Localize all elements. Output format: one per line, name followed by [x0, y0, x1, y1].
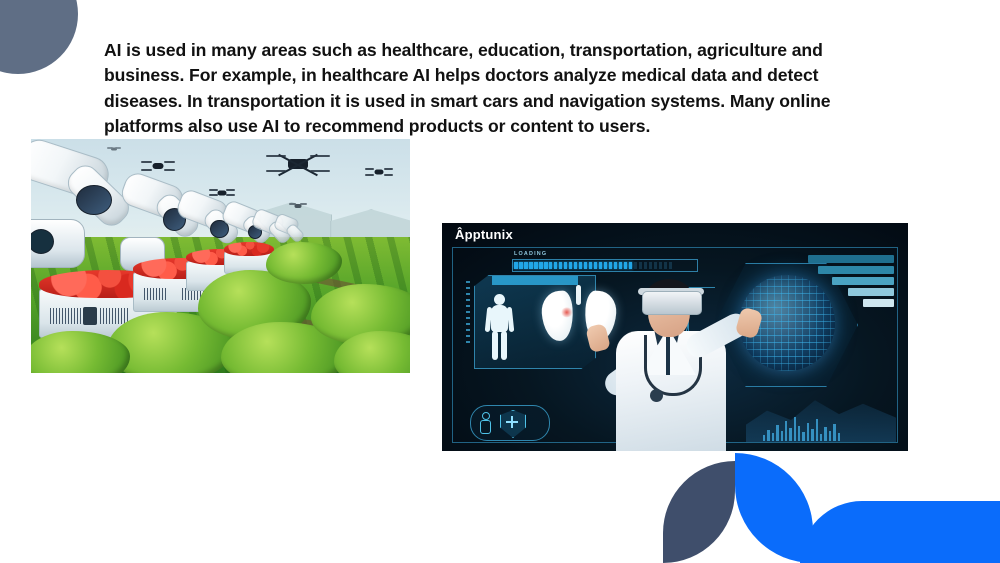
body-paragraph: AI is used in many areas such as healthc… [104, 38, 872, 139]
strawberry-pile [224, 242, 273, 256]
waveform-bar [824, 427, 826, 441]
loading-segment [529, 262, 533, 269]
waveform-bar [802, 432, 804, 441]
hud-bar [818, 266, 894, 274]
hud-tick-strip [466, 281, 470, 345]
human-body-icon [487, 294, 513, 360]
drone [365, 167, 393, 177]
loading-segment [574, 262, 578, 269]
loading-segment [619, 262, 623, 269]
drone [289, 202, 307, 209]
loading-progress-bar [512, 259, 698, 272]
waveform-bar [789, 428, 791, 441]
waveform-bar [833, 424, 835, 441]
loading-segment [589, 262, 593, 269]
loading-segment [629, 262, 633, 269]
leaf-petal-blue [735, 453, 813, 563]
hud-bar [832, 277, 894, 285]
loading-segment [649, 262, 653, 269]
loading-segment [594, 262, 598, 269]
shield-plus-icon [511, 416, 513, 428]
loading-segment [539, 262, 543, 269]
waveform-bar [811, 429, 813, 441]
loading-segment [579, 262, 583, 269]
loading-segment [634, 262, 638, 269]
vr-headset [642, 291, 702, 315]
waveform-bar [816, 419, 818, 441]
panel-header-bar [492, 276, 578, 285]
loading-segment [639, 262, 643, 269]
waveform-bar [776, 425, 778, 441]
loading-segment [604, 262, 608, 269]
leaf-logo [663, 453, 839, 563]
lung-lesion-marker [560, 307, 573, 318]
apptunix-brand-label: Âpptunix [455, 227, 513, 242]
waveform-bar [785, 421, 787, 441]
waveform-bar [772, 433, 774, 441]
stethoscope-bell [650, 389, 663, 402]
loading-segment [659, 262, 663, 269]
loading-segment [514, 262, 518, 269]
loading-segment [564, 262, 568, 269]
waveform-bar [798, 426, 800, 441]
waveform-bar [829, 431, 831, 441]
loading-segment [664, 262, 668, 269]
gray-corner-circle [0, 0, 78, 74]
hud-bar [863, 299, 894, 307]
waveform-bar [807, 423, 809, 441]
doctor-figure [588, 273, 758, 451]
loading-segment [654, 262, 658, 269]
loading-segment [584, 262, 588, 269]
loading-segment [609, 262, 613, 269]
loading-segment [534, 262, 538, 269]
loading-label: LOADING [514, 251, 547, 257]
lung-left [540, 290, 574, 342]
hud-mini-icon-group [470, 405, 552, 439]
waveform-bar [838, 433, 840, 441]
loading-segment [549, 262, 553, 269]
waveform-bar [781, 431, 783, 441]
doctor-left-hand [585, 323, 611, 353]
waveform-bar [820, 434, 822, 441]
waveform-bar [763, 435, 765, 441]
loading-segment [599, 262, 603, 269]
loading-segment [669, 262, 673, 269]
trachea [576, 285, 581, 305]
person-icon [480, 412, 489, 432]
loading-segment [569, 262, 573, 269]
hud-bar-chart [808, 255, 894, 307]
drone [266, 153, 330, 175]
slide-canvas: AI is used in many areas such as healthc… [0, 0, 1000, 563]
loading-segment [519, 262, 523, 269]
waveform-bar [794, 417, 796, 441]
waveform-bar [767, 430, 769, 441]
loading-segment [614, 262, 618, 269]
loading-segment [624, 262, 628, 269]
loading-segment [559, 262, 563, 269]
hud-bar [808, 255, 894, 263]
loading-segment [554, 262, 558, 269]
agriculture-ai-photo [31, 139, 410, 373]
leaf-petal-slate [663, 461, 735, 563]
loading-segment [544, 262, 548, 269]
hud-bar [848, 288, 894, 296]
waveform-bars [763, 411, 840, 441]
loading-segment [524, 262, 528, 269]
loading-segment [644, 262, 648, 269]
healthcare-ai-photo: Âpptunix LOADING [442, 223, 908, 451]
